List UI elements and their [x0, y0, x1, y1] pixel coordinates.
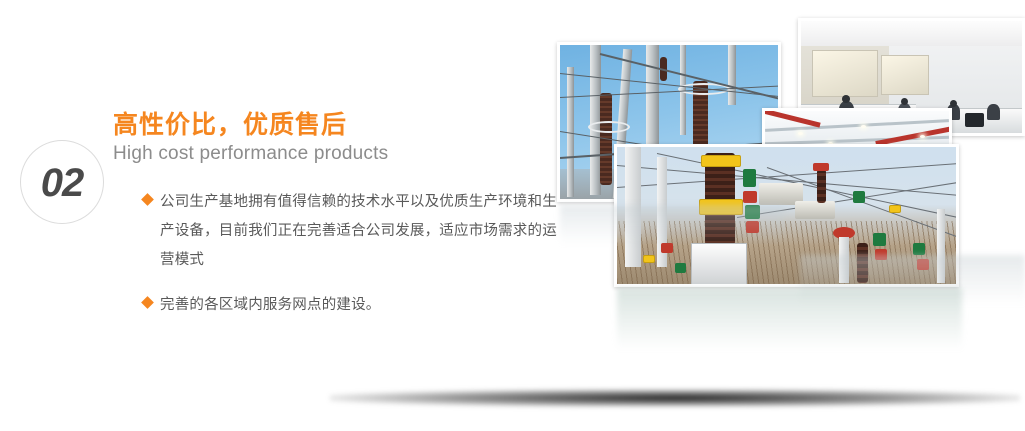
- step-number: 02: [41, 163, 84, 203]
- office-person-head: [842, 95, 850, 103]
- bottom-shadow: [330, 389, 1020, 407]
- step-number-badge: 02: [20, 140, 104, 224]
- office-glass-partition: [881, 55, 930, 95]
- green-fitting: [743, 169, 756, 187]
- office-monitor: [965, 113, 985, 128]
- grey-housing: [795, 201, 835, 219]
- equipment-base: [691, 243, 747, 285]
- red-fitting: [813, 163, 829, 171]
- page-title: 高性价比，优质售后: [113, 111, 553, 139]
- diamond-bullet-icon: [141, 193, 154, 206]
- ceiling-lamp: [861, 125, 866, 128]
- green-fitting: [913, 243, 925, 255]
- list-item-text: 公司生产基地拥有值得信赖的技术水平以及优质生产环境和生产设备，目前我们正在完善适…: [160, 188, 563, 275]
- office-ceiling: [801, 21, 1022, 46]
- green-fitting: [675, 263, 686, 273]
- green-fitting: [853, 191, 865, 203]
- office-glass-partition: [812, 50, 878, 97]
- green-fitting: [873, 233, 886, 246]
- office-person-head: [901, 98, 908, 105]
- insulator-column: [817, 169, 826, 203]
- photo-reflection: [617, 288, 962, 350]
- slide-canvas: 02 高性价比，优质售后 High cost performance produ…: [0, 0, 1025, 431]
- mast-pole: [728, 45, 736, 105]
- yellow-band: [889, 205, 901, 213]
- page-subtitle: High cost performance products: [113, 143, 553, 165]
- yellow-band: [701, 155, 741, 167]
- photo-reflection: [560, 205, 784, 245]
- red-fitting: [743, 191, 757, 203]
- office-person-head: [950, 100, 957, 107]
- corona-ring: [588, 121, 630, 133]
- ceiling-lamp: [920, 135, 925, 138]
- diamond-bullet-icon: [141, 296, 154, 309]
- list-item: 公司生产基地拥有值得信赖的技术水平以及优质生产环境和生产设备，目前我们正在完善适…: [143, 188, 563, 275]
- ceiling-lamp: [798, 132, 803, 135]
- bullet-list: 公司生产基地拥有值得信赖的技术水平以及优质生产环境和生产设备，目前我们正在完善适…: [143, 188, 563, 320]
- office-person: [987, 104, 1000, 120]
- list-item-text: 完善的各区域内服务网点的建设。: [160, 291, 381, 320]
- list-item: 完善的各区域内服务网点的建设。: [143, 291, 563, 320]
- heading-group: 高性价比，优质售后 High cost performance products: [113, 111, 553, 165]
- yellow-band: [643, 255, 655, 263]
